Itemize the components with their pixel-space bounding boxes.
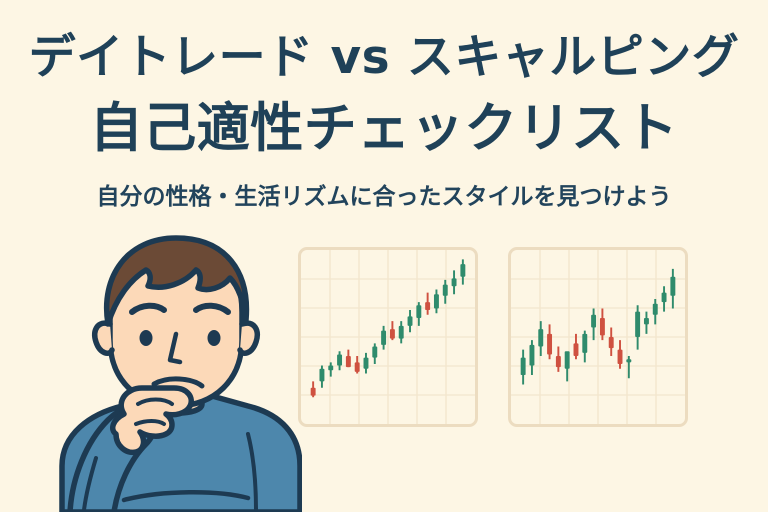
candle-body-up — [443, 285, 448, 296]
eye-right — [208, 330, 221, 346]
candle-body-up — [372, 347, 377, 358]
candle-body-up — [626, 359, 631, 362]
candle-body-up — [381, 331, 386, 345]
candlestick-chart-scalping — [511, 250, 685, 424]
candle-body-down — [574, 343, 579, 356]
ear-right — [240, 323, 257, 353]
chart-panel-scalping — [508, 247, 688, 427]
candle-body-down — [390, 329, 395, 339]
candle-body-down — [355, 362, 360, 372]
candle-body-down — [618, 350, 623, 364]
chart-grid-right — [511, 250, 685, 424]
candle-body-up — [460, 264, 465, 277]
candlestick-chart-day-trade — [301, 250, 475, 424]
header: デイトレード vs スキャルピング 自己適性チェックリスト 自分の性格・生活リズ… — [0, 0, 768, 232]
candle-body-down — [547, 334, 552, 355]
candle-body-up — [416, 305, 421, 318]
thinking-man-illustration — [52, 228, 302, 512]
candle-body-up — [521, 358, 526, 375]
candle-body-up — [434, 294, 439, 308]
page-title-line-1: デイトレード vs スキャルピング — [0, 34, 768, 81]
page-subtitle: 自分の性格・生活リズムに合ったスタイルを見つけよう — [0, 186, 768, 209]
candle-body-up — [591, 315, 596, 328]
candle-body-up — [582, 334, 587, 353]
candle-body-up — [452, 278, 457, 286]
candle-body-down — [609, 337, 614, 348]
page-title-line-2: 自己適性チェックリスト — [0, 102, 768, 155]
candle-body-down — [311, 388, 316, 396]
candle-body-up — [399, 326, 404, 339]
candle-body-up — [653, 304, 658, 315]
candle-body-up — [538, 329, 543, 346]
candle-body-down — [600, 318, 605, 335]
candle-body-up — [670, 277, 675, 296]
candle-body-down — [346, 356, 351, 367]
candle-body-down — [556, 356, 561, 367]
poster-canvas: デイトレード vs スキャルピング 自己適性チェックリスト 自分の性格・生活リズ… — [0, 0, 768, 512]
candle-body-up — [319, 369, 324, 382]
chart-grid-left — [301, 250, 475, 424]
candle-body-up — [635, 312, 640, 337]
candle-body-up — [565, 351, 570, 368]
chart-panel-day-trade — [298, 247, 478, 427]
candle-body-up — [337, 354, 342, 365]
eye-left — [140, 330, 153, 346]
candle-body-up — [644, 318, 649, 324]
candle-body-up — [408, 316, 413, 326]
candle-body-up — [364, 358, 369, 369]
ear-left — [95, 323, 112, 353]
candle-body-up — [529, 345, 534, 366]
candle-body-up — [662, 293, 667, 303]
candle-body-down — [425, 302, 430, 310]
candle-body-up — [328, 366, 333, 371]
